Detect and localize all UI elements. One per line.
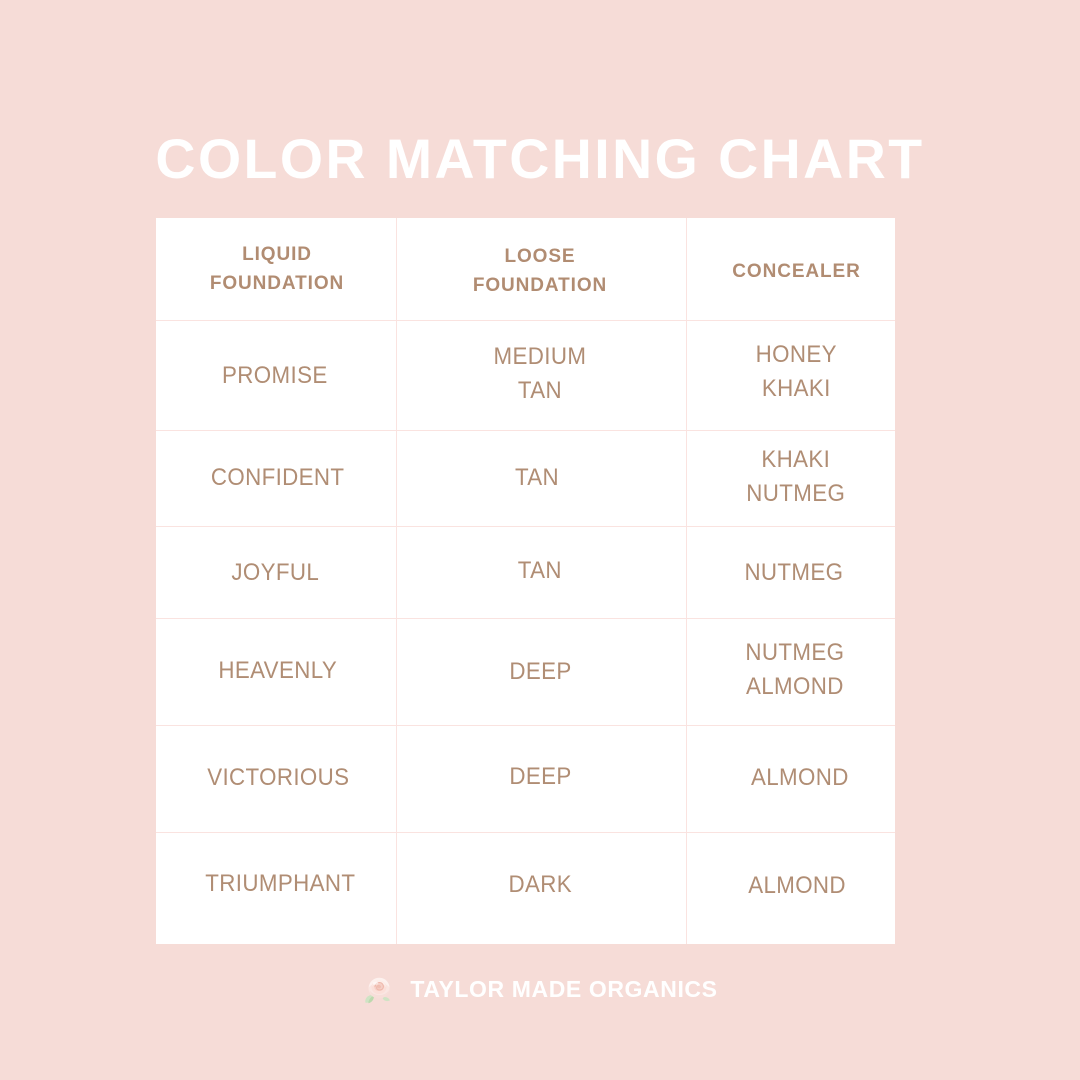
cell-value: ALMOND — [748, 869, 846, 903]
color-matching-chart-page: COLOR MATCHING CHART LIQUID FOUNDATION L… — [0, 0, 1080, 1080]
cell-value: CONFIDENT — [211, 461, 345, 495]
column-header-label: CONCEALER — [732, 257, 860, 286]
column-header-loose-foundation: LOOSE FOUNDATION — [396, 218, 686, 320]
brand-name: TAYLOR MADE ORGANICS — [410, 974, 717, 1004]
footer: TAYLOR MADE ORGANICS — [0, 968, 1080, 1010]
cell-liquid-foundation: VICTORIOUS — [156, 725, 396, 832]
table-header-row: LIQUID FOUNDATION LOOSE FOUNDATION CONCE… — [156, 218, 895, 320]
cell-liquid-foundation: CONFIDENT — [156, 430, 396, 526]
cell-value: JOYFUL — [231, 556, 319, 590]
cell-value: HONEY KHAKI — [755, 338, 836, 406]
cell-value: HEAVENLY — [218, 654, 337, 688]
cell-loose-foundation: DEEP — [396, 725, 686, 832]
cell-liquid-foundation: HEAVENLY — [156, 618, 396, 725]
table-row: PROMISE MEDIUM TAN HONEY KHAKI — [156, 320, 895, 430]
page-title: COLOR MATCHING CHART — [5, 126, 1074, 192]
table-row: CONFIDENT TAN KHAKI NUTMEG — [156, 430, 895, 526]
cell-concealer: KHAKI NUTMEG — [686, 430, 895, 526]
rose-icon — [362, 972, 396, 1006]
cell-value: PROMISE — [222, 359, 328, 393]
cell-value: DARK — [508, 868, 572, 902]
table-row: JOYFUL TAN NUTMEG — [156, 526, 895, 618]
cell-concealer: ALMOND — [686, 832, 895, 944]
cell-loose-foundation: TAN — [396, 526, 686, 618]
cell-loose-foundation: DEEP — [396, 618, 686, 725]
cell-value: KHAKI NUTMEG — [747, 443, 846, 511]
cell-concealer: NUTMEG — [686, 526, 895, 618]
cell-loose-foundation: MEDIUM TAN — [396, 320, 686, 430]
cell-liquid-foundation: PROMISE — [156, 320, 396, 430]
cell-value: DEEP — [509, 760, 571, 794]
cell-loose-foundation: DARK — [396, 832, 686, 944]
column-header-label: LIQUID FOUNDATION — [210, 240, 344, 298]
table-row: TRIUMPHANT DARK ALMOND — [156, 832, 895, 944]
cell-value: ALMOND — [751, 761, 849, 795]
cell-value: DEEP — [509, 655, 571, 689]
table-row: VICTORIOUS DEEP ALMOND — [156, 725, 895, 832]
cell-concealer: HONEY KHAKI — [686, 320, 895, 430]
cell-concealer: ALMOND — [686, 725, 895, 832]
column-header-liquid-foundation: LIQUID FOUNDATION — [156, 218, 396, 320]
column-header-label: LOOSE FOUNDATION — [473, 242, 607, 300]
cell-value: TRIUMPHANT — [206, 867, 356, 901]
cell-value: MEDIUM TAN — [494, 340, 587, 408]
cell-liquid-foundation: JOYFUL — [156, 526, 396, 618]
cell-value: NUTMEG — [745, 556, 844, 590]
cell-loose-foundation: TAN — [396, 430, 686, 526]
column-header-concealer: CONCEALER — [686, 218, 895, 320]
cell-liquid-foundation: TRIUMPHANT — [156, 832, 396, 944]
table-row: HEAVENLY DEEP NUTMEG ALMOND — [156, 618, 895, 725]
cell-value: TAN — [515, 461, 559, 495]
cell-value: TAN — [518, 554, 562, 588]
cell-concealer: NUTMEG ALMOND — [686, 618, 895, 725]
cell-value: VICTORIOUS — [207, 761, 349, 795]
color-matching-table: LIQUID FOUNDATION LOOSE FOUNDATION CONCE… — [156, 218, 895, 944]
cell-value: NUTMEG ALMOND — [746, 636, 845, 704]
